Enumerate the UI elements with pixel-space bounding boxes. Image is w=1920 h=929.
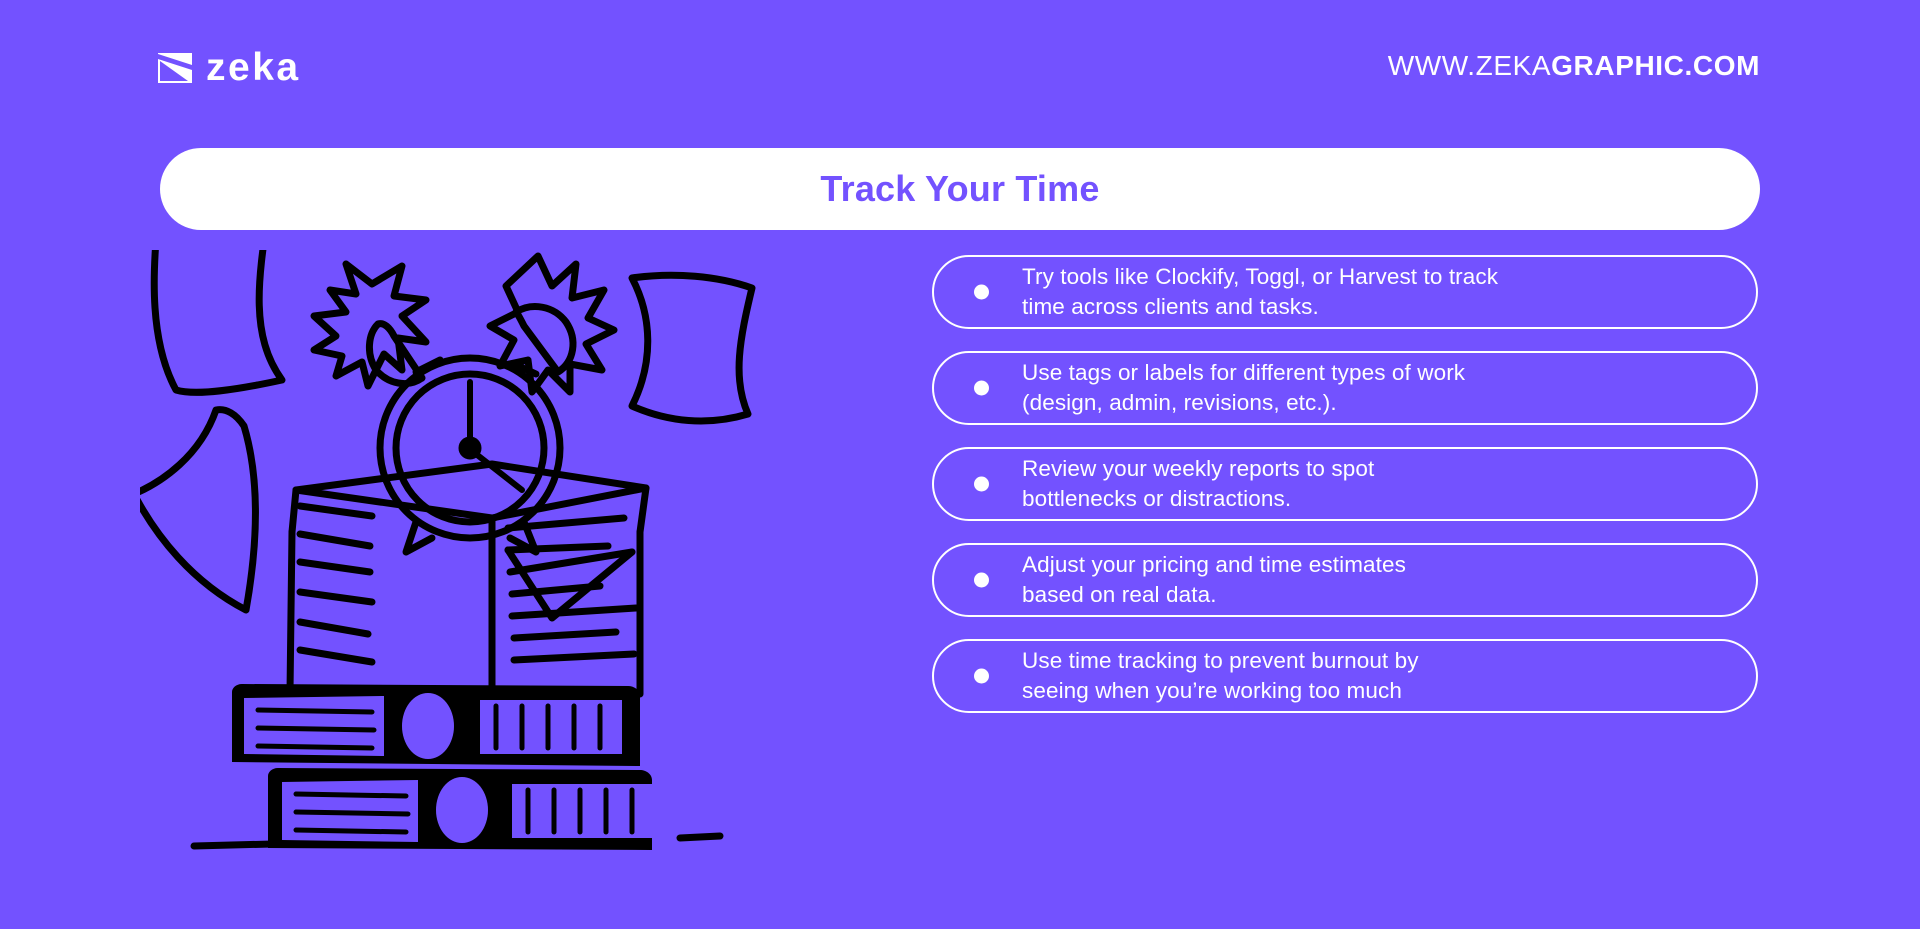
list-item-label: Use time tracking to prevent burnout by … <box>1022 646 1443 706</box>
brand-logo-wordmark: zeka <box>206 48 301 87</box>
bullet-dot-icon <box>974 477 989 492</box>
tips-list: Try tools like Clockify, Toggl, or Harve… <box>932 255 1758 713</box>
zeka-square-slash-mark-icon <box>158 53 192 83</box>
site-url-light: WWW.ZEKA <box>1388 50 1551 81</box>
bullet-dot-icon <box>974 381 989 396</box>
list-item[interactable]: Review your weekly reports to spot bottl… <box>932 447 1758 521</box>
slide-canvas: zeka WWW.ZEKAGRAPHIC.COM Track Your Time <box>0 0 1920 929</box>
bullet-dot-icon <box>974 669 989 684</box>
brand-logo[interactable]: zeka <box>158 48 301 87</box>
site-url[interactable]: WWW.ZEKAGRAPHIC.COM <box>1388 52 1760 80</box>
list-item[interactable]: Use tags or labels for different types o… <box>932 351 1758 425</box>
list-item[interactable]: Adjust your pricing and time estimates b… <box>932 543 1758 617</box>
page-title: Track Your Time <box>820 171 1099 207</box>
bullet-dot-icon <box>974 285 989 300</box>
bullet-dot-icon <box>974 573 989 588</box>
site-url-bold: GRAPHIC.COM <box>1551 50 1760 81</box>
list-item[interactable]: Use time tracking to prevent burnout by … <box>932 639 1758 713</box>
list-item-label: Use tags or labels for different types o… <box>1022 358 1489 418</box>
alarm-clock-papers-binders-illustration <box>140 250 900 929</box>
list-item-label: Try tools like Clockify, Toggl, or Harve… <box>1022 262 1522 322</box>
list-item-label: Review your weekly reports to spot bottl… <box>1022 454 1398 514</box>
page-title-pill: Track Your Time <box>160 148 1760 230</box>
list-item-label: Adjust your pricing and time estimates b… <box>1022 550 1430 610</box>
list-item[interactable]: Try tools like Clockify, Toggl, or Harve… <box>932 255 1758 329</box>
